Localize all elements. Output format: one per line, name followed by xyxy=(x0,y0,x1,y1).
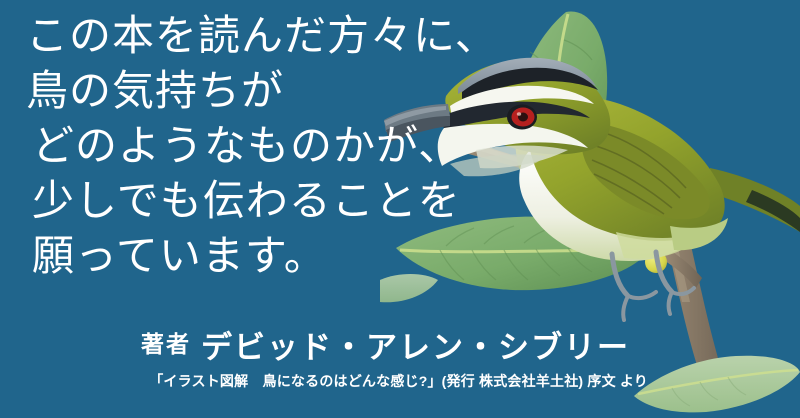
author-label: 著者 xyxy=(141,331,191,357)
berry xyxy=(631,225,653,247)
source-citation: 「イラスト図解 鳥になるのはどんな感じ?」(発行 株式会社羊土社) 序文 より xyxy=(0,371,648,391)
quote-line-3: どのようなものかが、 xyxy=(26,120,496,175)
bird-feet xyxy=(623,288,694,320)
quote-banner: この本を読んだ方々に、 鳥の気持ちが どのようなものかが、 少しでも伝わることを… xyxy=(0,0,800,418)
berry xyxy=(577,156,599,178)
bird-eye xyxy=(507,105,537,130)
branch-main xyxy=(648,148,732,404)
berry xyxy=(645,251,667,273)
author-name: デビッド・アレン・シブリー xyxy=(201,330,630,365)
berry xyxy=(559,213,577,231)
quote-line-5: 願っています。 xyxy=(26,230,496,285)
leaf-upper-small xyxy=(538,165,639,218)
author-attribution: 著者デビッド・アレン・シブリー xyxy=(0,322,630,367)
berry xyxy=(543,194,563,214)
quote-line-4: 少しでも伝わることを xyxy=(26,175,496,230)
quote-line-1: この本を読んだ方々に、 xyxy=(26,10,496,65)
bird-legs xyxy=(612,252,672,296)
quote-line-2: 鳥の気持ちが xyxy=(26,65,496,120)
quote-text: この本を読んだ方々に、 鳥の気持ちが どのようなものかが、 少しでも伝わることを… xyxy=(26,10,496,285)
leaf-bottom-pale xyxy=(634,356,800,413)
leaf-upper-large xyxy=(515,12,607,192)
